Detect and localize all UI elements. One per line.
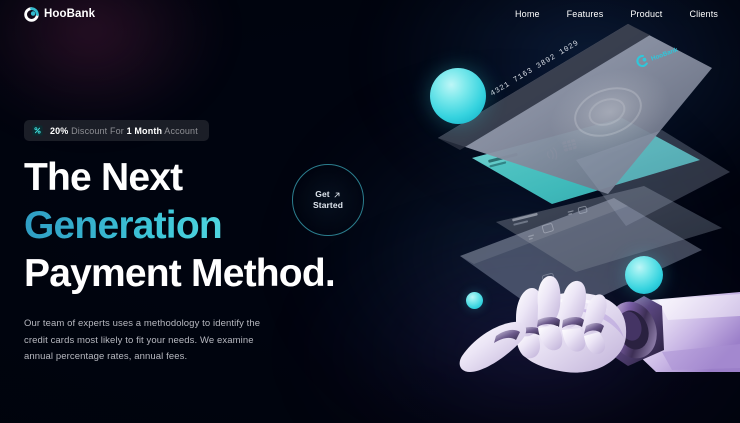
card-stack: 4321 7163 3892 1029 HooBank	[438, 24, 730, 320]
discount-text: 20% Discount For 1 Month Account	[50, 126, 198, 136]
discount-percent: 20%	[50, 126, 68, 136]
navbar: HooBank Home Features Product Clients	[0, 0, 740, 28]
get-started-label-2: Started	[313, 200, 343, 211]
discount-text-part1: Discount For	[68, 126, 126, 136]
discount-text-part2: Account	[162, 126, 198, 136]
nav-link-clients[interactable]: Clients	[689, 9, 718, 19]
headline-line-3: Payment Method.	[24, 250, 374, 298]
hero-page: 4321 7163 3892 1029 HooBank	[0, 0, 740, 423]
get-started-label-1: Get	[315, 189, 329, 200]
nav-link-home[interactable]: Home	[515, 9, 540, 19]
discount-sparkle-icon	[32, 125, 43, 136]
nav-link-product[interactable]: Product	[630, 9, 662, 19]
nav-links: Home Features Product Clients	[515, 9, 718, 19]
hero-content: 20% Discount For 1 Month Account The Nex…	[24, 120, 374, 366]
arrow-up-right-icon	[333, 191, 341, 199]
hero-artwork: 4321 7163 3892 1029 HooBank	[400, 0, 740, 423]
brand-logo[interactable]: HooBank	[24, 7, 95, 22]
finger-thumb	[460, 322, 527, 372]
nav-link-features[interactable]: Features	[567, 9, 604, 19]
discount-duration: 1 Month	[127, 126, 163, 136]
hero-paragraph: Our team of experts uses a methodology t…	[24, 316, 271, 366]
sphere-small	[466, 292, 483, 309]
discount-badge[interactable]: 20% Discount For 1 Month Account	[24, 120, 209, 141]
brand-name: HooBank	[44, 8, 95, 20]
hoobank-swoosh-icon	[24, 7, 39, 22]
get-started-button[interactable]: Get Started	[292, 164, 364, 236]
get-started-row: Get	[315, 189, 340, 200]
sphere-large-top	[430, 68, 486, 124]
sphere-medium-bottom	[625, 256, 663, 294]
